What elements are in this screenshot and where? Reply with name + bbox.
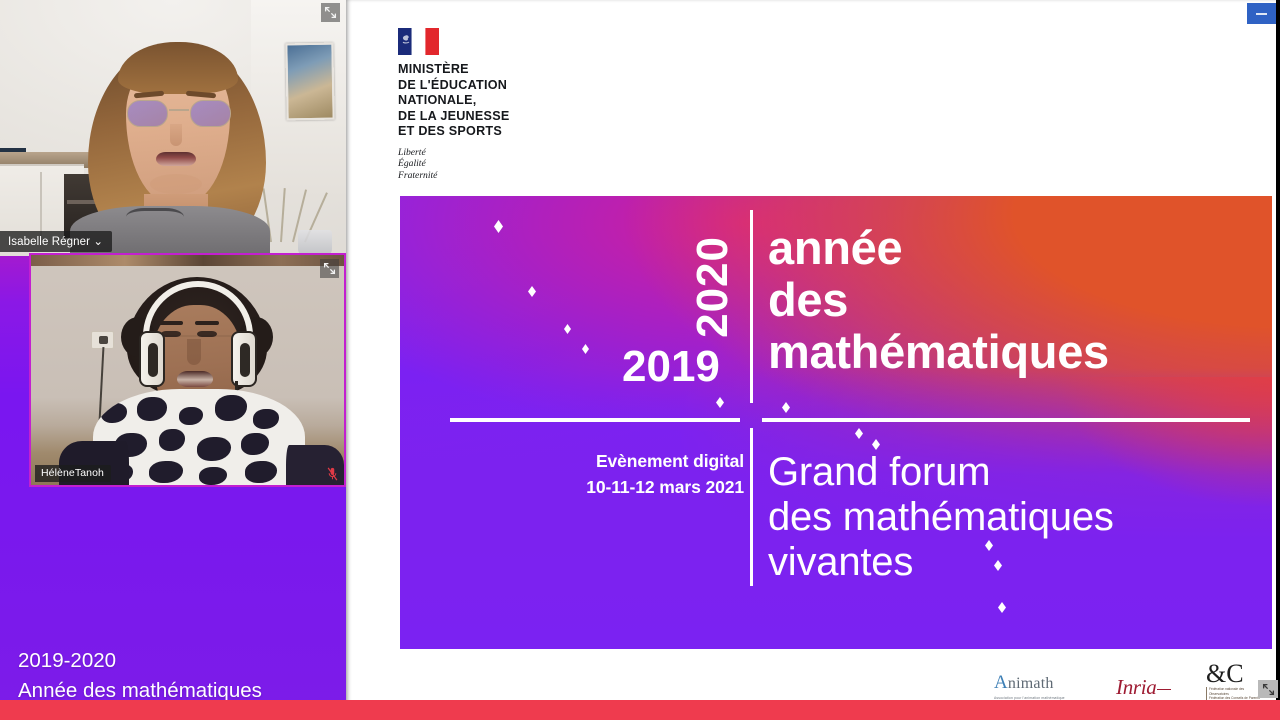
presentation-slide: MINISTÈRE DE L'ÉDUCATION NATIONALE, DE L…: [346, 0, 1276, 705]
caption-line-1: 2019-2020: [18, 646, 346, 676]
banner-subtitle-line-2: des mathématiques: [768, 495, 1114, 540]
divider-horizontal-left: [450, 418, 740, 422]
banner-subtitle-line-1: Grand forum: [768, 450, 1114, 495]
video-panel: Isabelle Régner ⌄: [0, 0, 346, 720]
fullscreen-button[interactable]: [1258, 680, 1278, 698]
year-2020-vertical: 2020: [691, 236, 735, 338]
ministry-logo: MINISTÈRE DE L'ÉDUCATION NATIONALE, DE L…: [398, 28, 510, 181]
participant-name-text: Isabelle Régner: [8, 236, 90, 248]
participant-name-label: Isabelle Régner ⌄: [0, 231, 112, 252]
eighty-caption-line-1: Fédération nationale des Observatoires: [1209, 687, 1262, 695]
participant-name-text: HélèneTanoh: [41, 467, 104, 479]
ministry-line-1: MINISTÈRE: [398, 62, 510, 78]
ministry-line-5: ET DES SPORTS: [398, 124, 510, 140]
animath-logo-icon: Animath Association pour l'animation mat…: [994, 672, 1086, 700]
expand-icon[interactable]: [321, 3, 340, 22]
inria-name: Inria: [1116, 675, 1157, 699]
divider-vertical-bottom: [750, 428, 753, 586]
participant-tile-1[interactable]: Isabelle Régner ⌄: [0, 0, 346, 256]
banner-subtitle: Grand forum des mathématiques vivantes: [768, 450, 1114, 585]
headset-earcup-left: [139, 331, 165, 387]
eighty-caption: Fédération nationale des Observatoires F…: [1206, 687, 1262, 700]
person-collar: [126, 208, 184, 226]
framed-picture: [285, 43, 334, 121]
ministry-line-4: DE LA JEUNESSE: [398, 109, 510, 125]
motto-fraternite: Fraternité: [398, 170, 510, 181]
animath-name: Animath: [994, 672, 1086, 694]
participant-name-label: HélèneTanoh: [35, 465, 111, 482]
event-date-block: Evènement digital 10-11-12 mars 2021: [548, 448, 744, 500]
french-flag-marianne-icon: [398, 28, 439, 55]
sponsor-logos: Animath Association pour l'animation mat…: [994, 660, 1262, 700]
webcam-feed-isabelle-regner: [0, 0, 346, 256]
fullscreen-icon: [1262, 683, 1275, 696]
background-shelf: [31, 255, 344, 266]
year-2019: 2019: [622, 345, 720, 389]
lower-third-caption: 2019-2020 Année des mathématiques: [0, 646, 346, 706]
screen-root: Isabelle Régner ⌄: [0, 0, 1280, 720]
divider-vertical-top: [750, 210, 753, 403]
motto-liberte: Liberté: [398, 147, 510, 158]
shared-screen-area: MINISTÈRE DE L'ÉDUCATION NATIONALE, DE L…: [346, 0, 1280, 720]
eighty-mark: &C: [1206, 663, 1262, 685]
ministry-line-3: NATIONALE,: [398, 93, 510, 109]
animath-initial: A: [994, 672, 1008, 693]
inria-logo-icon: Inria: [1116, 675, 1188, 700]
republic-motto: Liberté Égalité Fraternité: [398, 147, 510, 181]
divider-horizontal-right: [762, 418, 1250, 422]
participant-menu-chevron-icon[interactable]: ⌄: [93, 236, 103, 248]
ministry-line-2: DE L'ÉDUCATION: [398, 78, 510, 94]
minimize-button[interactable]: [1247, 3, 1276, 24]
banner-title-line-1: année: [768, 222, 1109, 274]
expand-icon[interactable]: [320, 259, 339, 278]
bottom-accent-bar: [0, 700, 1280, 720]
minimize-icon: [1256, 13, 1267, 15]
motto-egalite: Égalité: [398, 158, 510, 169]
event-line-1: Evènement digital: [548, 448, 744, 474]
headset-earcup-right: [231, 331, 257, 387]
banner-title-line-2: des: [768, 274, 1109, 326]
banner-title-line-3: mathématiques: [768, 326, 1109, 378]
banner-subtitle-line-3: vivantes: [768, 540, 1114, 585]
animath-rest: nimath: [1008, 675, 1054, 692]
ministry-name: MINISTÈRE DE L'ÉDUCATION NATIONALE, DE L…: [398, 62, 510, 140]
event-line-2: 10-11-12 mars 2021: [548, 474, 744, 500]
person-head: [104, 34, 250, 234]
eighty-amp: &: [1206, 659, 1226, 688]
participant-tile-2[interactable]: HélèneTanoh: [29, 253, 346, 487]
webcam-feed-helene-tanoh: [31, 255, 344, 485]
banner-title: année des mathématiques: [768, 222, 1109, 378]
eighty-c: C: [1226, 659, 1243, 688]
microphone-muted-icon: [327, 467, 338, 481]
eighty-anniversary-logo-icon: &C Fédération nationale des Observatoire…: [1206, 663, 1262, 700]
event-banner: 2020 2019 année des mathématiques Evènem…: [400, 196, 1272, 649]
